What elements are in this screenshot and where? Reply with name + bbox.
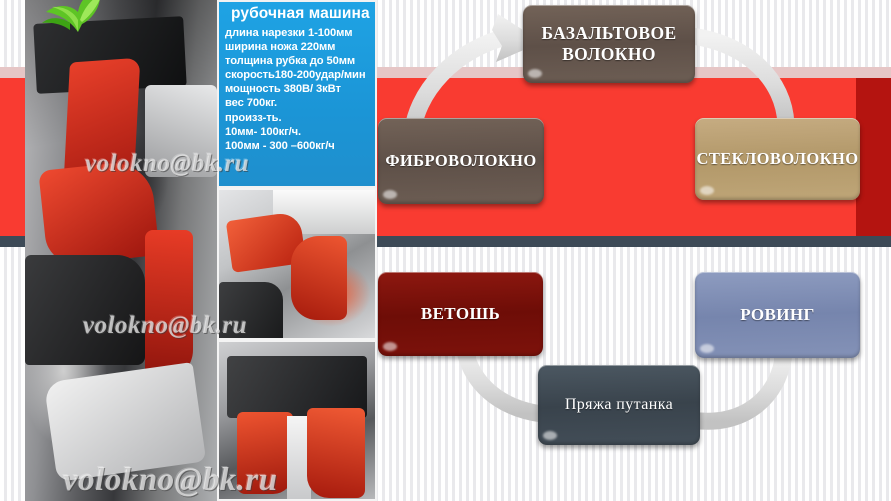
machine-photo-secondary [217, 188, 377, 340]
cycle-node-basalt[interactable]: БАЗАЛЬТОВОЕ ВОЛОКНО [523, 5, 695, 83]
arrow-roving-to-pryazha [692, 352, 784, 421]
cycle-diagram: БАЗАЛЬТОВОЕ ВОЛОКНО СТЕКЛОВОЛОКНО РОВИНГ… [370, 0, 891, 501]
photo-shape [291, 236, 347, 320]
photo-collage: рубочная машина длина нарезки 1-100мм ши… [25, 0, 377, 501]
spec-line: скорость180-200удар/мин [225, 68, 371, 82]
arrow-basalt-to-steklo [692, 36, 786, 124]
specification-panel: рубочная машина длина нарезки 1-100мм ши… [217, 0, 377, 188]
machine-photo-tertiary [217, 340, 377, 501]
photo-shape [145, 85, 217, 177]
spec-line: 10мм- 100кг/ч. [225, 125, 371, 139]
photo-shape [219, 282, 283, 340]
spec-line: мощность 380В/ 3кВт [225, 82, 371, 96]
cycle-node-vetosh[interactable]: ВЕТОШЬ [378, 272, 543, 356]
spec-line: произз-ть. [225, 111, 371, 125]
cycle-node-steklovolokno[interactable]: СТЕКЛОВОЛОКНО [695, 118, 860, 200]
spec-line: длина нарезки 1-100мм [225, 26, 371, 40]
photo-shape [38, 159, 159, 266]
photo-shape [237, 412, 293, 494]
arrow-pryazha-to-vetosh [464, 346, 542, 414]
machine-photo-main [25, 0, 217, 501]
spec-title: рубочная машина [231, 5, 371, 23]
spec-line: толщина рубка до 50мм [225, 54, 371, 68]
cycle-node-pryazha-putanka[interactable]: Пряжа путанка [538, 365, 700, 445]
spec-line: 100мм - 300 –600кг/ч [225, 139, 371, 153]
plant-leaf-icon [40, 0, 116, 32]
cycle-node-fibrovolokno[interactable]: ФИБРОВОЛОКНО [378, 118, 544, 204]
photo-shape [145, 230, 193, 380]
spec-line: ширина ножа 220мм [225, 40, 371, 54]
cycle-node-roving[interactable]: РОВИНГ [695, 272, 860, 358]
photo-shape [25, 255, 145, 365]
spec-line: вес 700кг. [225, 96, 371, 110]
slide-canvas: рубочная машина длина нарезки 1-100мм ши… [0, 0, 891, 501]
photo-shape [44, 362, 206, 482]
photo-shape [307, 408, 365, 498]
